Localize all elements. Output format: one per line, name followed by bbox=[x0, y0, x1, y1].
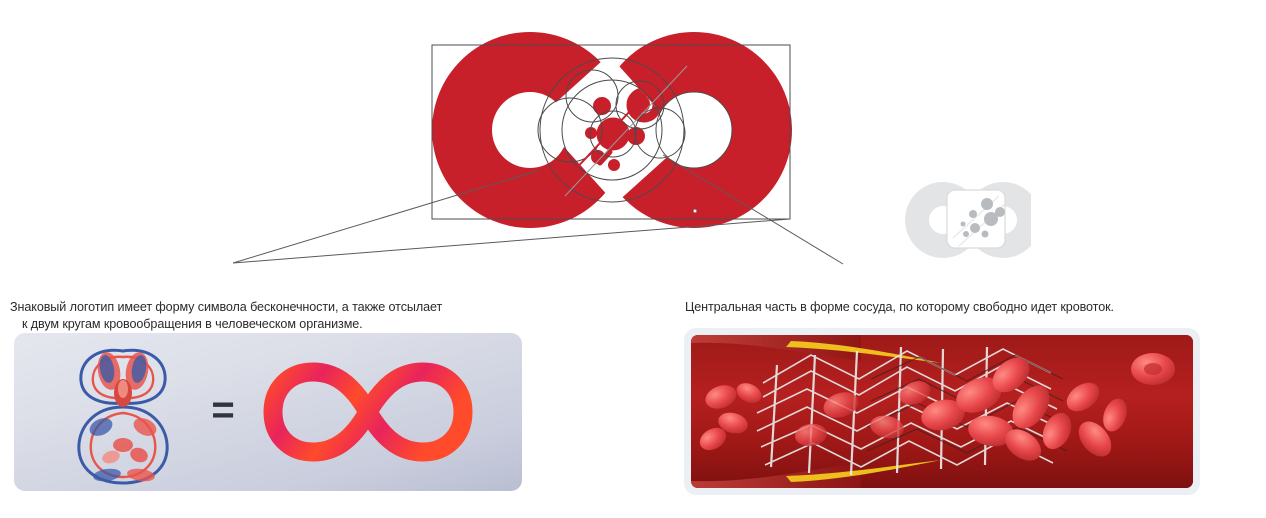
monochrome-logo-variant bbox=[903, 172, 1031, 268]
circulatory-system-diagram bbox=[63, 337, 183, 487]
vessel-callout-square bbox=[947, 190, 1005, 248]
stent-panel bbox=[684, 328, 1200, 495]
heart bbox=[114, 379, 132, 407]
caption-two: Центральная часть в форме сосуда, по кот… bbox=[685, 282, 1265, 316]
page-root: Знаковый логотип имеет форму символа бес… bbox=[0, 0, 1266, 518]
stent-photo bbox=[691, 335, 1193, 488]
logo-construction-diagram bbox=[0, 0, 1266, 290]
organs bbox=[87, 415, 160, 483]
caption-two-line1: Центральная часть в форме сосуда, по кот… bbox=[685, 300, 1114, 314]
infinity-symbol bbox=[263, 360, 473, 464]
circulation-panel: = bbox=[14, 333, 522, 491]
caption-one-line1: Знаковый логотип имеет форму символа бес… bbox=[10, 300, 442, 314]
caption-one-line2: к двум кругам кровообращения в человечес… bbox=[10, 316, 630, 333]
equals-sign: = bbox=[211, 390, 234, 430]
